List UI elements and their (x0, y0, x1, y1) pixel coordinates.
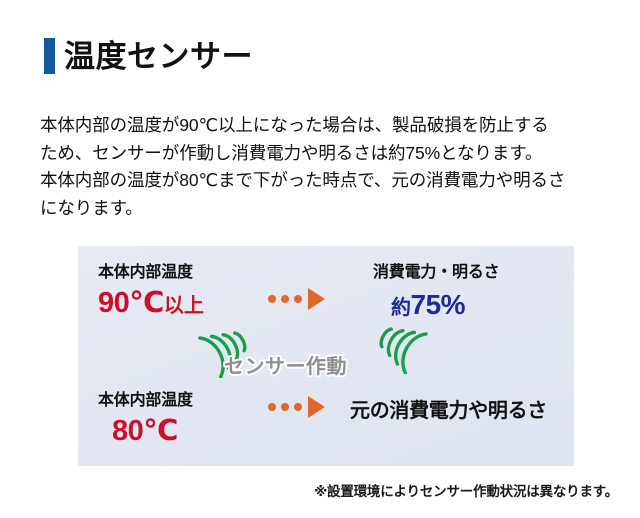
arrow-hot-to-result (268, 288, 325, 310)
arrow-head-icon (308, 288, 325, 310)
description-block: 本体内部の温度が90℃以上になった場合は、製品破損を防止する ため、センサーが作… (40, 112, 620, 222)
arrow-dot-icon (294, 403, 302, 411)
reduced-power-label: 消費電力・明るさ (373, 258, 499, 282)
arrow-dot-icon (281, 403, 289, 411)
sensor-diagram-panel: 本体内部温度 90℃以上 消費電力・明るさ 約75% (78, 246, 574, 466)
arrow-dot-icon (268, 403, 276, 411)
description-line-3: 本体内部の温度が80℃まで下がった時点で、元の消費電力や明るさ (40, 167, 620, 195)
hot-temperature-value: 90℃以上 (98, 288, 204, 318)
sensor-active-caption: センサー作動 (224, 350, 347, 379)
footnote-text: ※設置環境によりセンサー作動状況は異なります。 (314, 480, 618, 500)
cool-temperature-label: 本体内部温度 (98, 386, 193, 410)
hot-temperature-number: 90℃ (98, 287, 164, 319)
description-line-2: ため、センサーが作動し消費電力や明るさは約75%となります。 (40, 140, 620, 168)
title-accent-bar (44, 38, 55, 74)
page-title-text: 温度センサー (64, 41, 253, 72)
arrow-dot-icon (281, 295, 289, 303)
sensor-wave-right-icon (366, 314, 430, 379)
hot-temperature-suffix: 以上 (164, 295, 204, 317)
reduced-power-group: 消費電力・明るさ 約75% (373, 258, 499, 319)
arrow-head-icon (308, 396, 325, 418)
cool-temperature-group: 本体内部温度 80℃ (98, 386, 193, 446)
original-power-text: 元の消費電力や明るさ (350, 394, 547, 423)
description-line-1: 本体内部の温度が90℃以上になった場合は、製品破損を防止する (40, 112, 620, 140)
hot-temperature-group: 本体内部温度 90℃以上 (98, 258, 204, 318)
page-title: 温度センサー (44, 38, 253, 74)
cool-temperature-value: 80℃ (112, 416, 193, 446)
arrow-dot-icon (294, 295, 302, 303)
hot-temperature-label: 本体内部温度 (98, 258, 204, 282)
arrow-dot-icon (268, 295, 276, 303)
arrow-cool-to-result (268, 396, 325, 418)
description-line-4: になります。 (40, 195, 620, 223)
